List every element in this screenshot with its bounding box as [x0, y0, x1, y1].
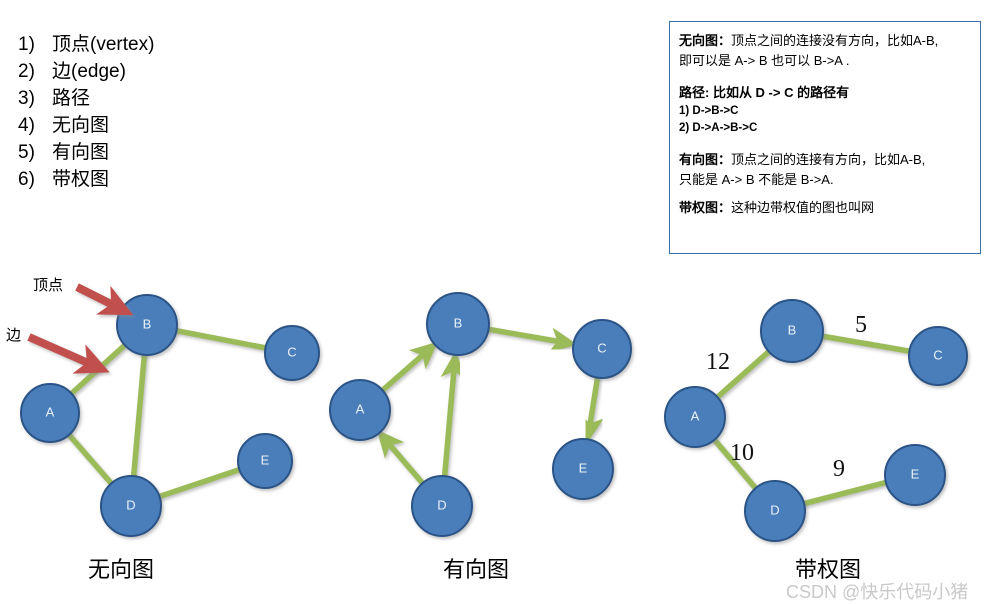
graph-node: A [665, 387, 725, 447]
node-label: A [46, 404, 55, 419]
node-label: D [437, 497, 446, 512]
graph-node: E [238, 434, 292, 488]
node-label: E [911, 466, 920, 481]
graph-node: C [265, 326, 319, 380]
watermark: CSDN @快乐代码小猪 [786, 578, 968, 604]
edge-weight-label: 10 [730, 440, 754, 467]
graph-node: C [573, 320, 631, 378]
node-label: B [143, 316, 152, 331]
node-label: C [287, 344, 296, 359]
edge-callout-label: 边 [6, 324, 21, 345]
node-label: D [126, 497, 135, 512]
vertex-callout-arrow [77, 287, 119, 308]
vertex-callout-label: 顶点 [33, 274, 63, 295]
graph-node: E [553, 439, 613, 499]
directed-edge [487, 329, 565, 343]
node-label: E [579, 460, 588, 475]
node-label: B [788, 322, 797, 337]
graph-node: D [745, 481, 805, 541]
edge [802, 482, 888, 504]
graph-diagrams: ABCDEABCDEABCDE [0, 0, 999, 603]
edge-weight-label: 12 [706, 349, 730, 376]
callout-arrows [29, 287, 119, 366]
edge [68, 433, 113, 485]
edge [70, 344, 126, 395]
graph-node: A [330, 380, 390, 440]
node-label: E [261, 452, 270, 467]
graph-node: B [761, 300, 823, 362]
graph-caption-directed: 有向图 [443, 552, 509, 584]
graph-node: A [21, 384, 79, 442]
edge [133, 353, 144, 478]
node-label: D [770, 502, 779, 517]
edge-weight-label: 5 [855, 312, 867, 339]
node-label: A [691, 408, 700, 423]
graph-node: B [117, 295, 177, 355]
node-label: C [933, 347, 942, 362]
graph-node: B [427, 293, 489, 355]
graph-node: C [909, 327, 967, 385]
edge [158, 469, 242, 497]
directed-edge [381, 350, 428, 391]
directed-edge [385, 440, 423, 485]
graph-node: E [885, 445, 945, 505]
edge [174, 330, 267, 348]
edge-callout-arrow [29, 337, 95, 366]
graph-node: D [412, 476, 472, 536]
node-label: B [454, 315, 463, 330]
node-label: A [356, 401, 365, 416]
graph-node: D [101, 476, 161, 536]
directed-edge [589, 376, 598, 431]
slide-canvas: 1) 顶点(vertex) 2) 边(edge) 3) 路径 4) 无向图 5)… [0, 0, 999, 603]
directed-edge [444, 364, 454, 478]
graph-caption-undirected: 无向图 [88, 552, 154, 584]
node-label: C [597, 340, 606, 355]
edge-weight-label: 9 [833, 456, 845, 483]
